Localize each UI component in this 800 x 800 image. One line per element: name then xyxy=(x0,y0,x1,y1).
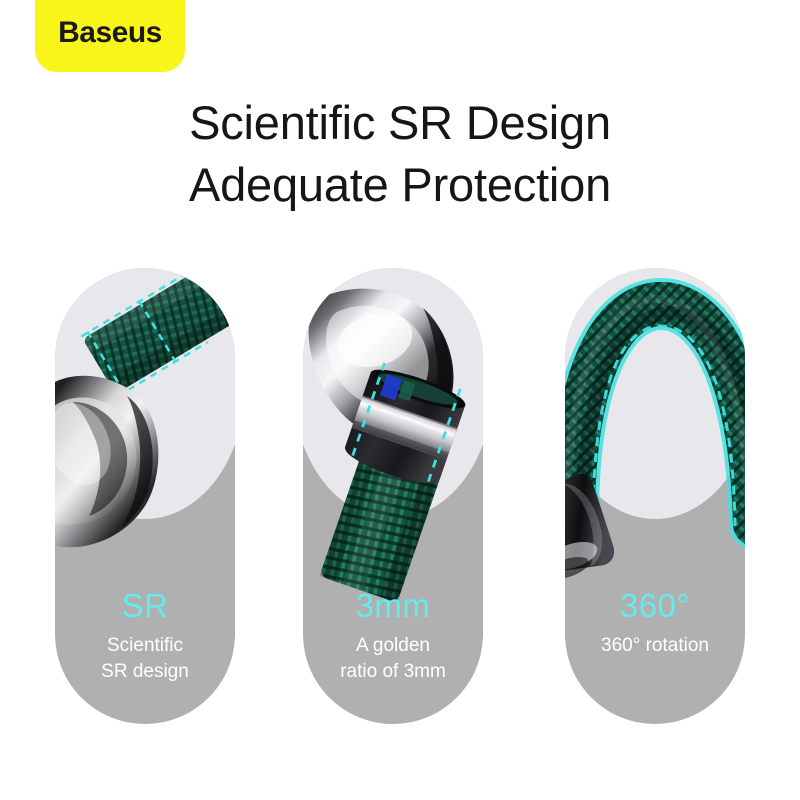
product-image-cutaway-connector xyxy=(55,268,235,568)
panel-subtitle-line-1: 360° rotation xyxy=(565,633,745,659)
feature-panel-3mm: 3mm A golden ratio of 3mm xyxy=(303,268,483,724)
panel-title: SR xyxy=(55,586,235,626)
brand-wordmark: Baseus xyxy=(58,18,162,48)
feature-panels: SR Scientific SR design xyxy=(0,268,800,728)
panel-subtitle-line-2: ratio of 3mm xyxy=(303,659,483,685)
panel-subtitle-line-2: SR design xyxy=(55,659,235,685)
headline-line-2: Adequate Protection xyxy=(0,154,800,216)
feature-panel-360: 360° 360° rotation xyxy=(565,268,745,724)
feature-panel-sr: SR Scientific SR design xyxy=(55,268,235,724)
panel-subtitle-line-1: Scientific xyxy=(55,633,235,659)
panel-subtitle-line-1: A golden xyxy=(303,633,483,659)
brand-logo: Baseus xyxy=(35,0,185,72)
panel-title: 360° xyxy=(565,586,745,626)
product-image-connector-collar xyxy=(303,268,483,568)
page-title: Scientific SR Design Adequate Protection xyxy=(0,92,800,216)
panel-title: 3mm xyxy=(303,586,483,626)
panel-caption-360: 360° 360° rotation xyxy=(565,586,745,659)
panel-caption-sr: SR Scientific SR design xyxy=(55,586,235,685)
panel-caption-3mm: 3mm A golden ratio of 3mm xyxy=(303,586,483,685)
product-image-cable-loop xyxy=(565,268,745,568)
headline-line-1: Scientific SR Design xyxy=(0,92,800,154)
